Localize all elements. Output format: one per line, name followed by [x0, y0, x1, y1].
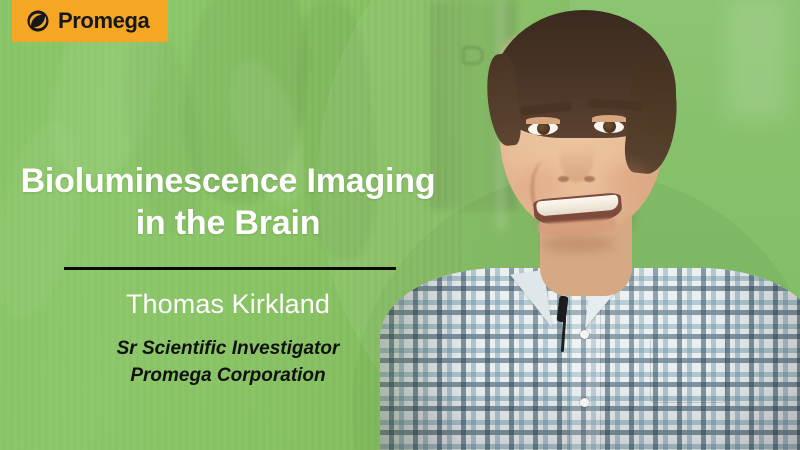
promega-ring-icon [26, 9, 50, 33]
divider-rule [64, 267, 396, 270]
shirt-button [580, 398, 589, 407]
title-line-1: Bioluminescence Imaging [0, 160, 456, 202]
nostril [584, 176, 595, 182]
title-block: Bioluminescence Imaging in the Brain [0, 160, 456, 244]
shirt-button [580, 330, 589, 339]
eyelid-left [526, 117, 560, 124]
speaker-name: Thomas Kirkland [0, 288, 456, 320]
eyelid-right [592, 115, 626, 122]
cheek-highlight [604, 162, 650, 196]
promega-logo-badge[interactable]: Promega [12, 0, 168, 42]
speaker-block: Thomas Kirkland Sr Scientific Investigat… [0, 288, 456, 390]
shirt-pocket [650, 340, 726, 403]
teeth [536, 194, 619, 216]
title-line-2: in the Brain [0, 202, 456, 244]
nose [560, 128, 594, 182]
speaker-organization: Promega Corporation [0, 363, 456, 390]
chin-shadow [542, 236, 614, 252]
speaker-role: Sr Scientific Investigator [0, 336, 456, 363]
promega-wordmark: Promega [58, 10, 149, 32]
title-card-slide: Promega Bioluminescence Imaging in the B… [0, 0, 800, 450]
